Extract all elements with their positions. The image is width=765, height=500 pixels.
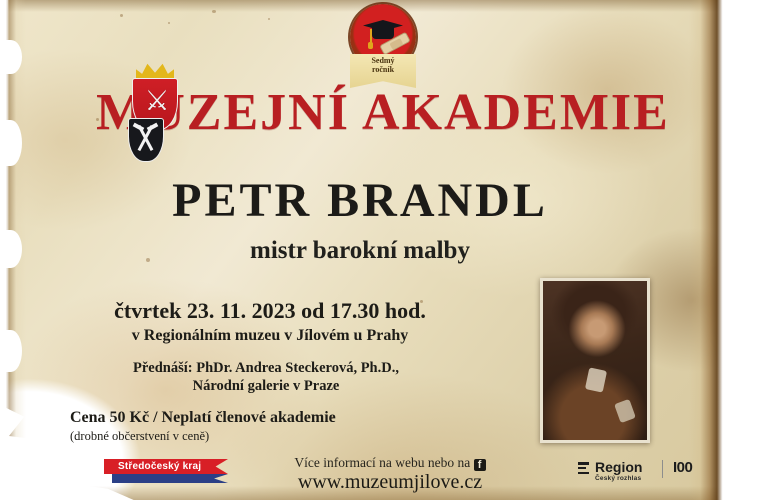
price-info: Cena 50 Kč / Neplatí členové akademie [70,409,470,427]
more-info-line: Více informací na webu nebo na f [270,455,510,471]
facebook-icon[interactable]: f [474,459,486,471]
poster-canvas: Sedmý ročník MUZEJNÍ AKADEMIE ⚔ PETR BRA… [0,0,765,500]
tassel-icon [370,29,372,43]
portrait-cuff [614,399,636,423]
seal-ribbon-line1: Sedmý [350,56,416,65]
lecturer-line-1: Přednáší: PhDr. Andrea Steckerová, Ph.D.… [66,360,466,377]
event-venue: v Regionálním muzeu v Jílovém u Prahy [70,327,470,345]
seal-ribbon-line2: ročník [350,65,416,74]
mining-hammers-icon [129,119,163,161]
paper-speck [268,18,270,20]
price-note: (drobné občerstvení v ceně) [70,429,470,444]
paper-speck [120,14,123,17]
seal-ribbon: Sedmý ročník [350,54,416,88]
portrait-collar [585,367,607,392]
more-info-text: Více informací na webu nebo na [294,455,470,470]
stredocesky-kraj-logo: Středočeský kraj [104,459,228,485]
kraj-blue-banner [112,474,228,483]
rozhlas-region-label: Region [595,459,642,476]
academy-seal-logo: Sedmý ročník [342,4,424,88]
logo-divider [662,460,663,478]
black-shield-icon [128,118,164,162]
website-url[interactable]: www.muzeumjilove.cz [250,471,530,494]
lecturer-line-2: Národní galerie v Praze [66,378,466,395]
event-date: čtvrtek 23. 11. 2023 od 17.30 hod. [70,298,470,324]
anniversary-label: I00 [673,459,692,477]
paper-speck [212,10,216,13]
portrait-image [540,278,650,443]
radio-bars-icon [578,462,590,476]
lion-icon: ⚔ [142,87,172,121]
kraj-red-banner: Středočeský kraj [104,459,228,474]
artist-subtitle: mistr barokní malby [60,236,660,266]
tassel-bob-icon [368,42,373,49]
rozhlas-sub-label: Český rozhlas [595,475,641,482]
coat-of-arms-icon: ⚔ [122,62,188,170]
kraj-label: Středočeský kraj [104,459,228,474]
artist-name: PETR BRANDL [60,174,660,228]
cesky-rozhlas-logo: Region Český rozhlas I00 [578,459,708,485]
graduation-cap-base-icon [372,28,394,39]
paper-speck [168,22,170,24]
